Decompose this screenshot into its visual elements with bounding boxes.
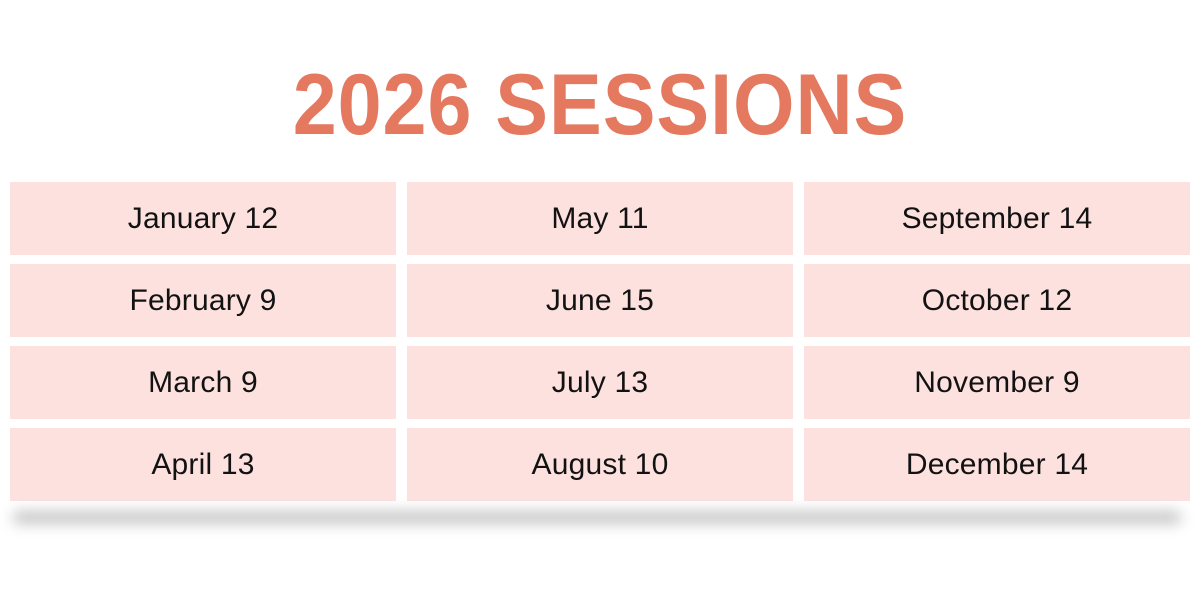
- session-date-label: January 12: [128, 204, 278, 234]
- session-date-label: April 13: [151, 450, 254, 480]
- title-block: 2026 SESSIONS: [0, 62, 1200, 148]
- page-title: 2026 SESSIONS: [293, 62, 907, 148]
- session-date-label: July 13: [552, 368, 648, 398]
- session-date-label: August 10: [532, 450, 669, 480]
- session-cell[interactable]: April 13: [10, 428, 396, 501]
- session-cell[interactable]: October 12: [804, 264, 1190, 337]
- session-date-label: November 9: [914, 368, 1079, 398]
- session-cell[interactable]: December 14: [804, 428, 1190, 501]
- session-date-label: March 9: [148, 368, 258, 398]
- session-date-label: February 9: [129, 286, 276, 316]
- session-cell[interactable]: September 14: [804, 182, 1190, 255]
- session-date-label: December 14: [906, 450, 1088, 480]
- session-date-grid: January 12 May 11 September 14 February …: [10, 182, 1190, 501]
- session-cell[interactable]: February 9: [10, 264, 396, 337]
- session-cell[interactable]: March 9: [10, 346, 396, 419]
- session-date-label: June 15: [546, 286, 654, 316]
- session-cell[interactable]: August 10: [407, 428, 793, 501]
- bottom-shadow-bar: [14, 512, 1180, 523]
- session-cell[interactable]: January 12: [10, 182, 396, 255]
- session-cell[interactable]: November 9: [804, 346, 1190, 419]
- session-date-label: September 14: [902, 204, 1093, 234]
- session-cell[interactable]: May 11: [407, 182, 793, 255]
- session-cell[interactable]: June 15: [407, 264, 793, 337]
- session-cell[interactable]: July 13: [407, 346, 793, 419]
- session-date-label: October 12: [922, 286, 1072, 316]
- session-date-label: May 11: [551, 204, 648, 234]
- sessions-poster: 2026 SESSIONS January 12 May 11 Septembe…: [0, 0, 1200, 600]
